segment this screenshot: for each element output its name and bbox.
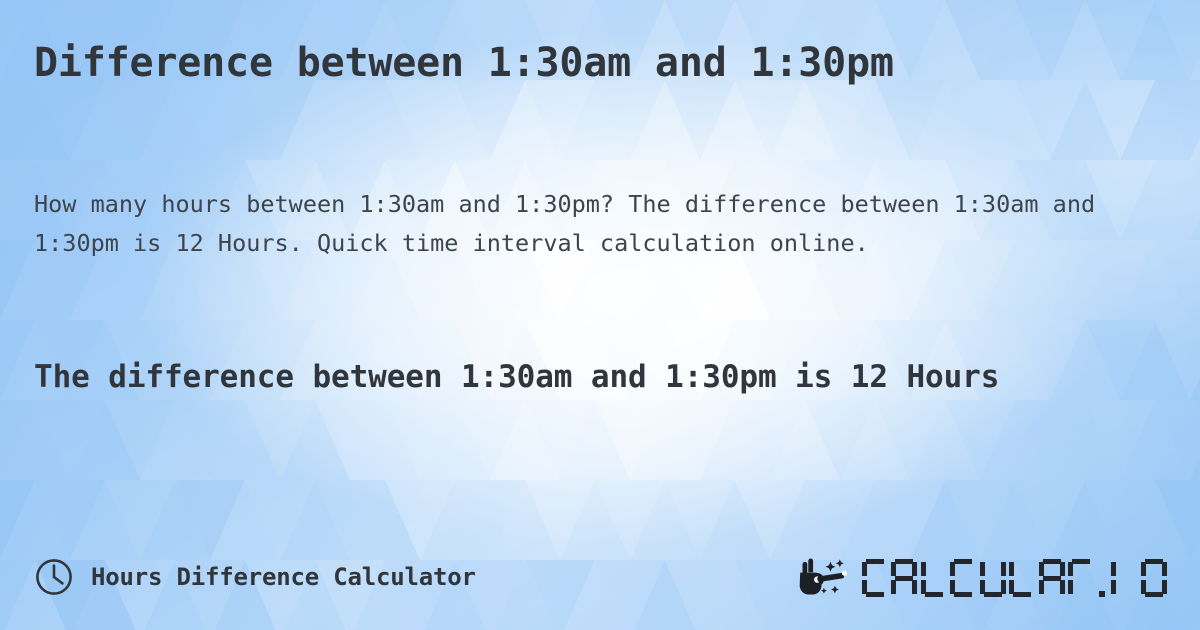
page-description: How many hours between 1:30am and 1:30pm… bbox=[34, 185, 1144, 263]
brand-letter bbox=[1141, 559, 1167, 597]
brand-logo[interactable] bbox=[796, 554, 1171, 600]
brand-letter bbox=[950, 559, 976, 597]
brand-letter bbox=[921, 559, 947, 597]
brand-letter bbox=[980, 559, 1006, 597]
card-content: Difference between 1:30am and 1:30pm How… bbox=[0, 0, 1200, 630]
card-footer: Hours Difference Calculator bbox=[34, 550, 1170, 604]
share-card: Difference between 1:30am and 1:30pm How… bbox=[0, 0, 1200, 630]
brand-letter bbox=[1039, 559, 1065, 597]
clock-icon bbox=[34, 557, 74, 597]
brand-letter bbox=[862, 559, 888, 597]
footer-tool: Hours Difference Calculator bbox=[34, 557, 476, 597]
brand-letter bbox=[1068, 559, 1094, 597]
brand-letter bbox=[1098, 559, 1108, 597]
brand-letter bbox=[1111, 559, 1137, 597]
brand-letter bbox=[1009, 559, 1035, 597]
footer-tool-name: Hours Difference Calculator bbox=[91, 563, 476, 591]
result-heading: The difference between 1:30am and 1:30pm… bbox=[34, 353, 1149, 402]
brand-letter bbox=[891, 559, 917, 597]
magic-wand-hand-icon bbox=[796, 554, 858, 600]
page-title: Difference between 1:30am and 1:30pm bbox=[34, 40, 1166, 87]
brand-wordmark bbox=[862, 557, 1171, 597]
